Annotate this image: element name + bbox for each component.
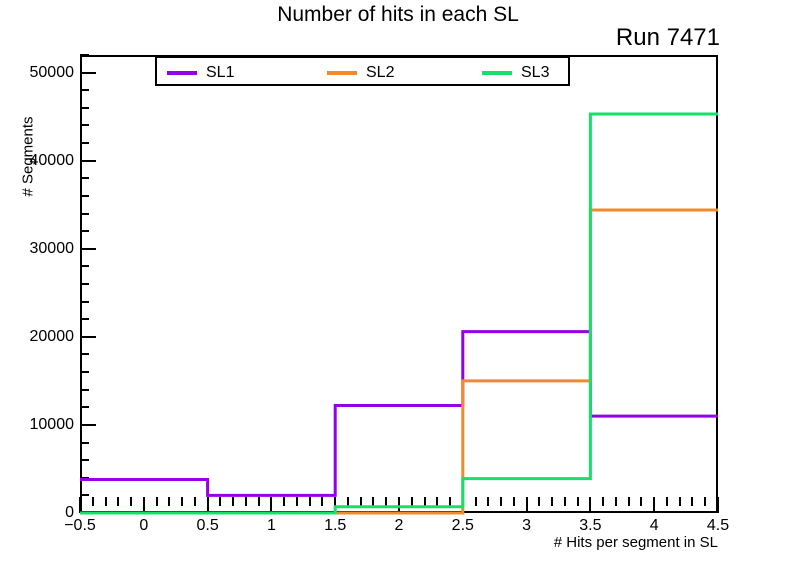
histogram-series-sl3 bbox=[80, 114, 718, 513]
legend-label: SL3 bbox=[521, 65, 549, 81]
legend-label: SL2 bbox=[366, 65, 394, 81]
legend-item-sl2[interactable]: SL2 bbox=[327, 64, 394, 82]
legend-swatch-sl3 bbox=[482, 71, 512, 75]
legend-item-sl3[interactable]: SL3 bbox=[482, 64, 549, 82]
legend: SL1SL2SL3 bbox=[155, 56, 570, 86]
legend-swatch-sl2 bbox=[327, 71, 357, 75]
histogram-series-sl2 bbox=[80, 210, 718, 513]
legend-item-sl1[interactable]: SL1 bbox=[167, 64, 234, 82]
histogram-series-sl1 bbox=[80, 332, 718, 496]
legend-swatch-sl1 bbox=[167, 71, 197, 75]
chart-canvas: Number of hits in each SL Run 7471 # Seg… bbox=[0, 0, 796, 572]
legend-label: SL1 bbox=[206, 65, 234, 81]
